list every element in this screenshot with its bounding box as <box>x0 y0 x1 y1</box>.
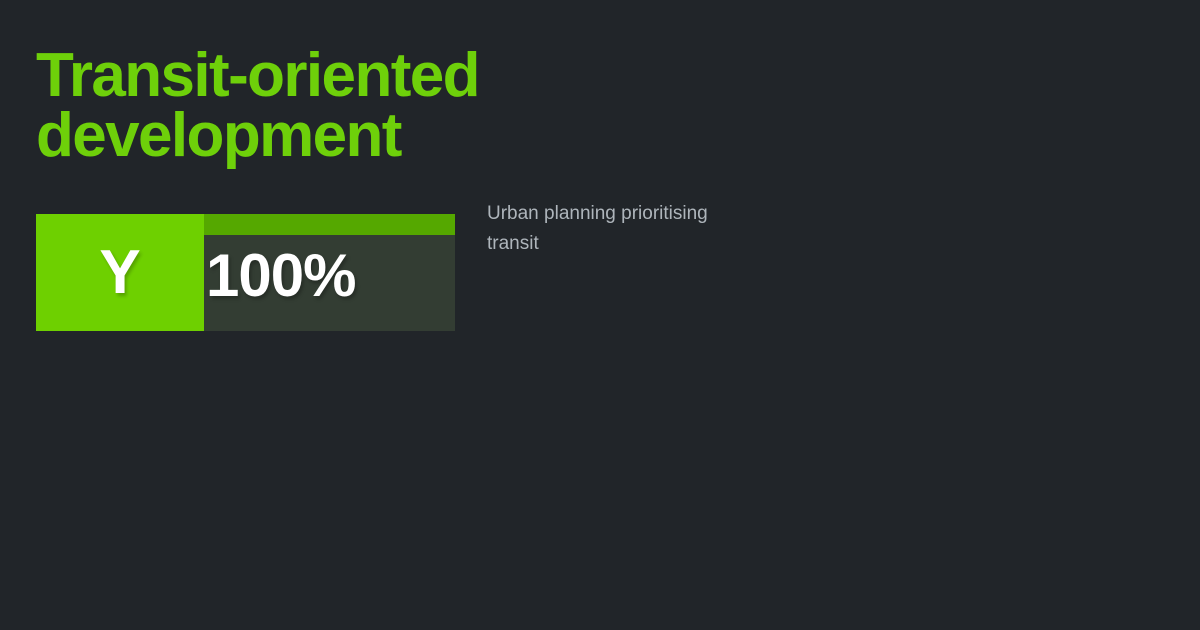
grade-tile: Y <box>36 214 204 331</box>
page-title: Transit-oriented development <box>36 46 656 166</box>
percent-value: 100% <box>206 246 355 306</box>
description-text: Urban planning prioritising transit <box>487 199 762 259</box>
grade-letter: Y <box>99 242 140 304</box>
percent-meter-fill <box>204 214 455 235</box>
summary-card: Transit-oriented development Y 100% Urba… <box>0 0 1200 630</box>
stat-badge: Y 100% <box>36 214 455 331</box>
percent-meter: 100% <box>204 214 455 331</box>
